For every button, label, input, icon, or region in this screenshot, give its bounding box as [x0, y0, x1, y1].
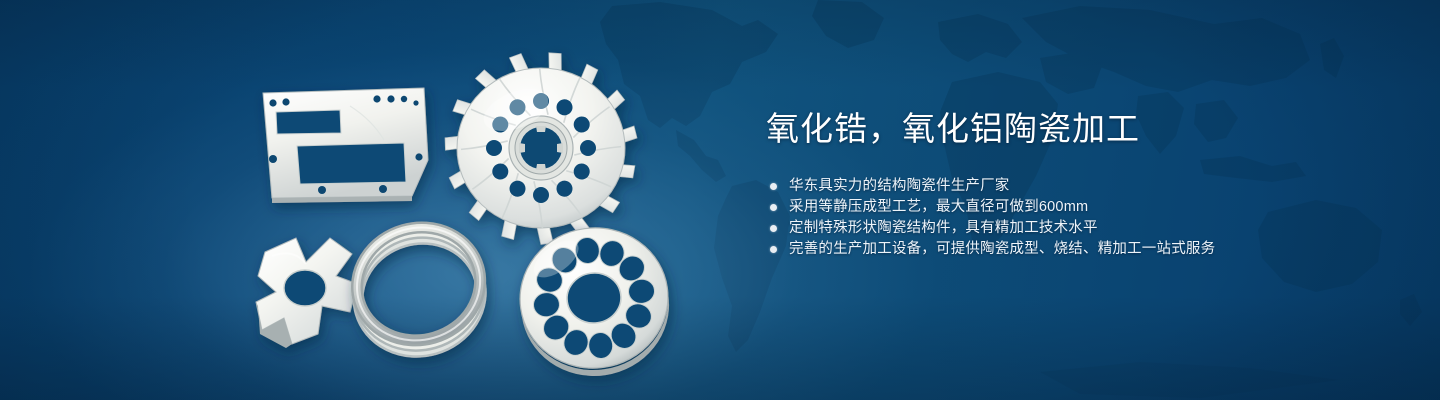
- bullet-dot-icon: [770, 183, 777, 190]
- feature-bullet-list: 华东具实力的结构陶瓷件生产厂家 采用等静压成型工艺，最大直径可做到600mm 定…: [770, 176, 1386, 260]
- list-item: 华东具实力的结构陶瓷件生产厂家: [770, 176, 1386, 197]
- bullet-text: 定制特殊形状陶瓷结构件，具有精加工技术水平: [789, 218, 1098, 239]
- bullet-text: 完善的生产加工设备，可提供陶瓷成型、烧结、精加工一站式服务: [789, 239, 1215, 260]
- ceramic-cross-vane: [256, 238, 358, 348]
- ceramic-impeller-disc: [443, 50, 638, 246]
- list-item: 完善的生产加工设备，可提供陶瓷成型、烧结、精加工一站式服务: [770, 239, 1386, 260]
- bullet-dot-icon: [770, 204, 777, 211]
- page-title: 氧化锆，氧化铝陶瓷加工: [766, 108, 1386, 150]
- bullet-text: 采用等静压成型工艺，最大直径可做到600mm: [789, 197, 1088, 218]
- bullet-dot-icon: [770, 225, 777, 232]
- list-item: 定制特殊形状陶瓷结构件，具有精加工技术水平: [770, 218, 1386, 239]
- ceramic-perforated-disc: [511, 218, 678, 385]
- ceramic-machined-plate: [263, 88, 428, 203]
- bullet-text: 华东具实力的结构陶瓷件生产厂家: [789, 176, 1010, 197]
- ceramic-products-photo-group: [0, 0, 720, 400]
- ceramic-processing-banner: 氧化锆，氧化铝陶瓷加工 华东具实力的结构陶瓷件生产厂家 采用等静压成型工艺，最大…: [0, 0, 1440, 400]
- bullet-dot-icon: [770, 246, 777, 253]
- banner-copy-block: 氧化锆，氧化铝陶瓷加工 华东具实力的结构陶瓷件生产厂家 采用等静压成型工艺，最大…: [766, 108, 1386, 260]
- list-item: 采用等静压成型工艺，最大直径可做到600mm: [770, 197, 1386, 218]
- ceramic-ring-stack: [344, 213, 495, 367]
